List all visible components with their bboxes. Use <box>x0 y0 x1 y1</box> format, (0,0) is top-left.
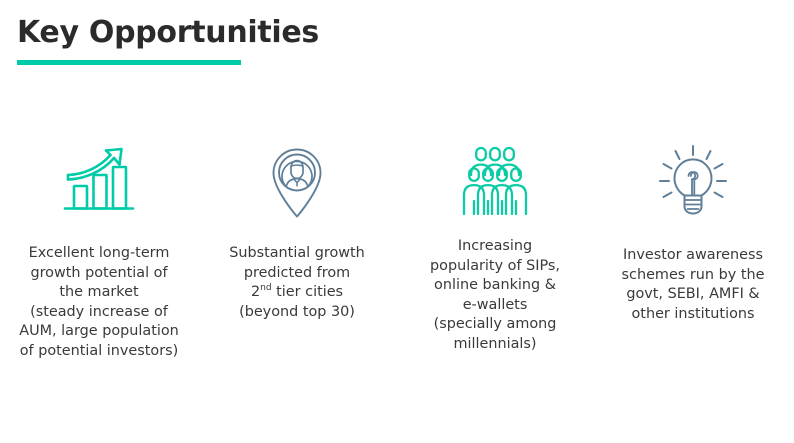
opportunity-text-4: Investor awareness schemes run by the go… <box>605 246 781 324</box>
opportunity-text-2: Substantial growth predicted from 2nd ti… <box>209 244 385 322</box>
growth-chart-icon <box>56 138 142 224</box>
page-title: Key Opportunities <box>17 16 757 51</box>
opportunity-column-1: Excellent long-term growth potential of … <box>0 138 198 362</box>
lightbulb-idea-icon <box>650 138 736 224</box>
title-underline-accent <box>17 60 241 65</box>
opportunity-columns: Excellent long-term growth potential of … <box>0 138 794 362</box>
ordinal-superscript: nd <box>260 283 272 293</box>
opportunity-column-4: Investor awareness schemes run by the go… <box>594 138 792 324</box>
opportunity-column-2: Substantial growth predicted from 2nd ti… <box>198 138 396 322</box>
group-of-people-icon <box>452 138 538 224</box>
location-pin-person-icon <box>254 138 340 224</box>
header: Key Opportunities <box>17 16 757 65</box>
opportunity-text-3: Increasing popularity of SIPs, online ba… <box>407 237 583 355</box>
opportunity-column-3: Increasing popularity of SIPs, online ba… <box>396 138 594 355</box>
opportunity-text-1: Excellent long-term growth potential of … <box>11 244 187 362</box>
